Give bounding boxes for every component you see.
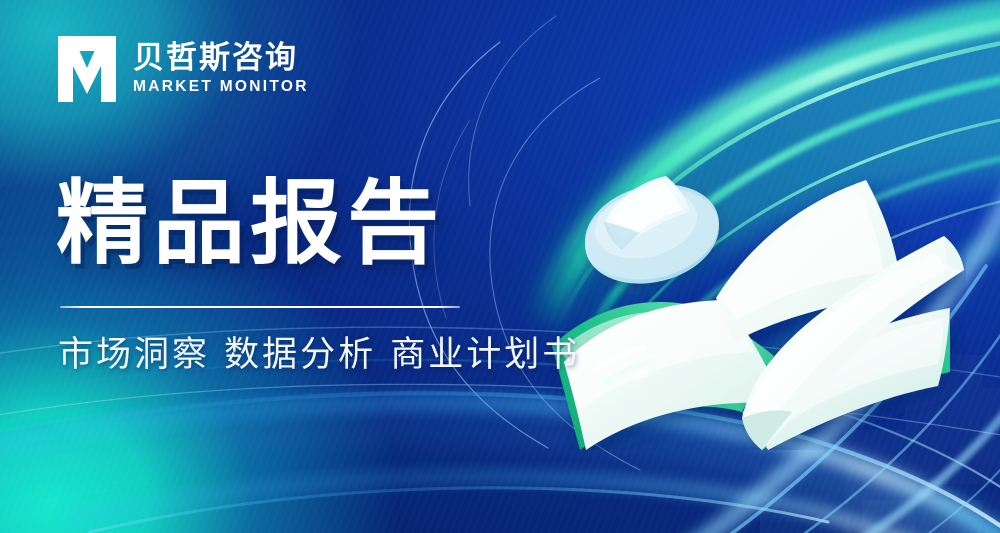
- logo-m-mark-icon: [58, 36, 116, 102]
- page-subtitle: 市场洞察 数据分析 商业计划书: [58, 331, 580, 380]
- report-banner: 贝哲斯咨询 MARKET MONITOR 精品报告 市场洞察 数据分析 商业计划…: [0, 0, 1000, 533]
- page-title: 精品报告: [56, 178, 444, 270]
- logo-text-block: 贝哲斯咨询 MARKET MONITOR: [133, 43, 309, 95]
- logo-company-name-en: MARKET MONITOR: [133, 79, 309, 95]
- logo-company-name-cn: 贝哲斯咨询: [133, 43, 309, 74]
- brand-logo[interactable]: 贝哲斯咨询 MARKET MONITOR: [58, 36, 309, 102]
- open-book-illustration: [546, 150, 966, 450]
- magnifier-disc-group: [575, 171, 729, 297]
- title-divider: [60, 306, 460, 308]
